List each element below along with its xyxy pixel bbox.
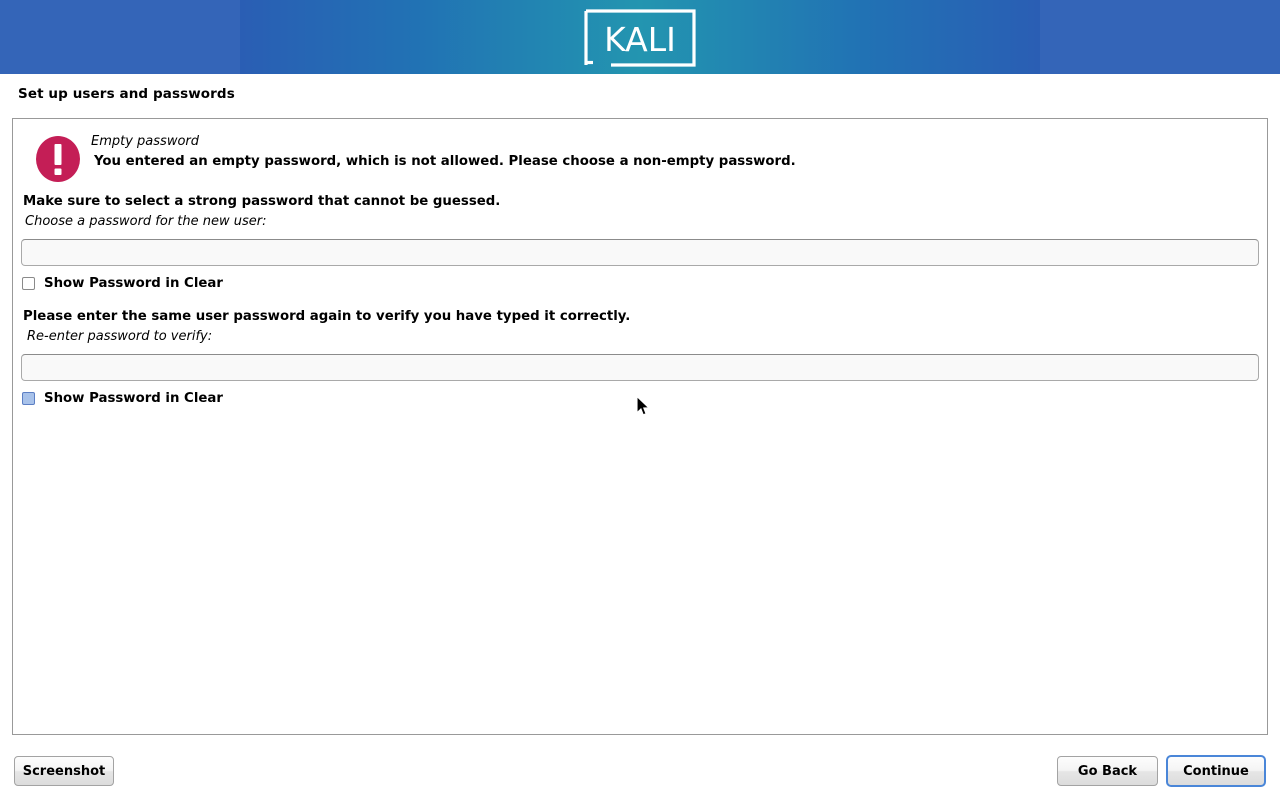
show-password-checkbox-1[interactable]: Show Password in Clear [22, 276, 223, 291]
continue-button[interactable]: Continue [1166, 755, 1266, 787]
verify-password-input[interactable] [21, 354, 1259, 381]
checkbox-box-icon[interactable] [22, 392, 35, 405]
page-title: Set up users and passwords [18, 86, 235, 102]
verify-password-heading: Please enter the same user password agai… [23, 309, 630, 324]
go-back-button[interactable]: Go Back [1057, 756, 1158, 786]
main-content-panel: Empty password You entered an empty pass… [12, 118, 1268, 735]
password-input[interactable] [21, 239, 1259, 266]
error-notice: Empty password You entered an empty pass… [23, 127, 1253, 189]
show-password-label-2: Show Password in Clear [44, 391, 223, 406]
kali-logo-icon: KALI [583, 8, 697, 68]
password-strength-heading: Make sure to select a strong password th… [23, 194, 500, 209]
screenshot-button[interactable]: Screenshot [14, 756, 114, 786]
password-field-label: Choose a password for the new user: [25, 214, 267, 229]
error-exclamation-icon [34, 135, 82, 183]
show-password-label-1: Show Password in Clear [44, 276, 223, 291]
show-password-checkbox-2[interactable]: Show Password in Clear [22, 391, 223, 406]
error-text-group: Empty password You entered an empty pass… [91, 133, 796, 172]
installer-banner: KALI [0, 0, 1280, 74]
checkbox-box-icon[interactable] [22, 277, 35, 290]
verify-field-label: Re-enter password to verify: [27, 329, 212, 344]
error-title: Empty password [91, 133, 796, 150]
error-message: You entered an empty password, which is … [91, 152, 796, 172]
kali-logo-text: KALI [604, 20, 676, 59]
